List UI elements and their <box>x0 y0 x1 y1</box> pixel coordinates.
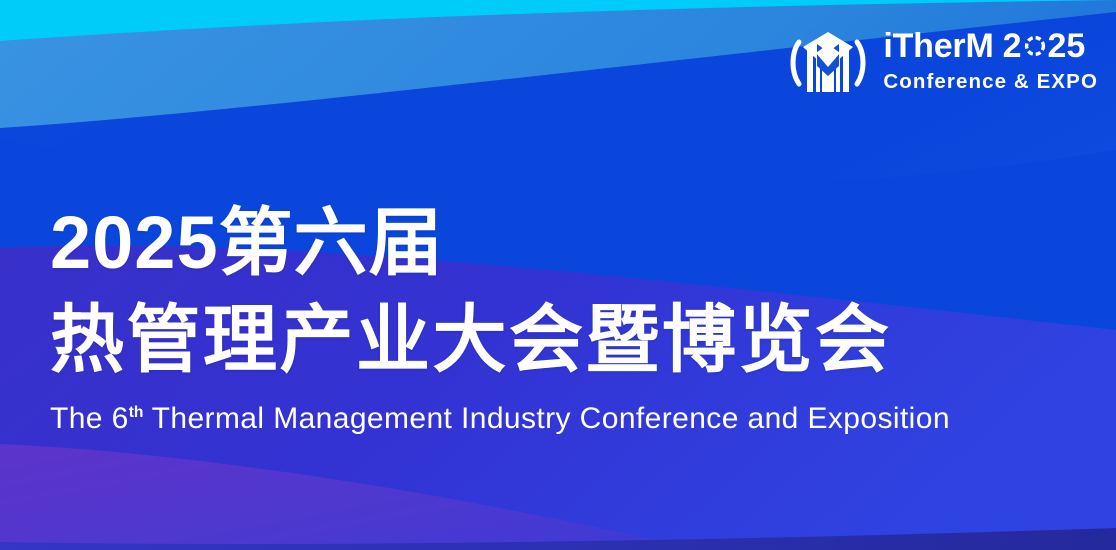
logo-year-suffix: 25 <box>1048 29 1086 63</box>
logo-wordmark-row: iTherM 2 25 <box>883 29 1085 63</box>
brand-logo-lockup[interactable]: iTherM 2 25 Conference & EXPO <box>787 22 1098 100</box>
title-line-secondary: 热管理产业大会暨博览会 <box>50 303 950 377</box>
itherm-m-monogram-icon <box>787 22 869 100</box>
logo-segmented-ring-icon <box>1023 34 1047 58</box>
subtitle-rest: Thermal Management Industry Conference a… <box>143 402 949 435</box>
headline-block: 2025第六届 热管理产业大会暨博览会 The 6th Thermal Mana… <box>50 206 950 434</box>
logo-year-prefix: 2 <box>1003 29 1022 63</box>
logo-tagline: Conference & EXPO <box>883 70 1098 94</box>
subtitle-ordinal-suffix: th <box>129 404 144 421</box>
logo-brand-text: iTherM <box>883 29 993 63</box>
subtitle-prefix: The 6 <box>50 402 129 435</box>
subtitle-english: The 6th Thermal Management Industry Conf… <box>50 404 950 434</box>
logo-wordmark-group: iTherM 2 25 Conference & EXPO <box>883 29 1098 94</box>
conference-banner: iTherM 2 25 Conference & EXPO 2025第六届 热管… <box>0 0 1116 550</box>
title-line-primary: 2025第六届 <box>50 206 950 280</box>
